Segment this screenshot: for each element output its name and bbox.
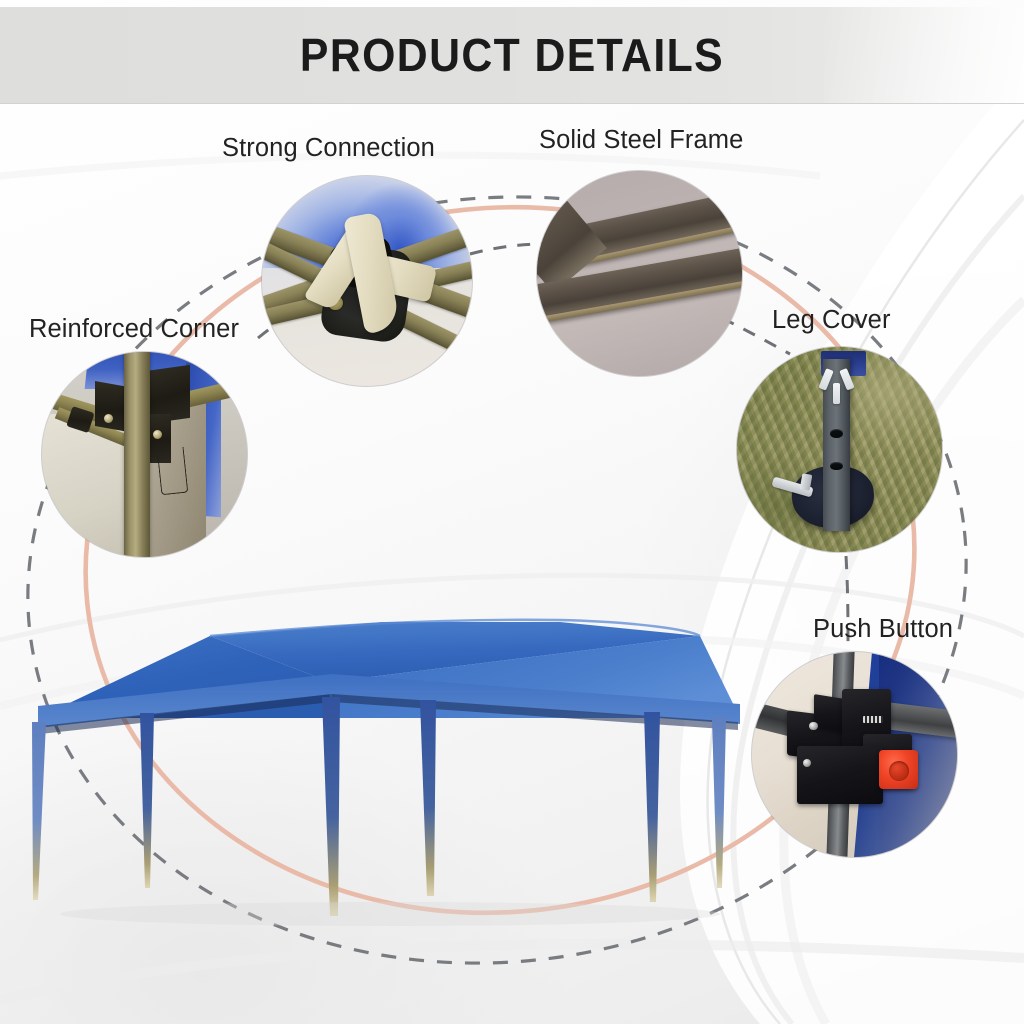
page-title: PRODUCT DETAILS xyxy=(36,7,988,103)
callout-label-reinforced-corner: Reinforced Corner xyxy=(29,315,239,344)
photo-strong-connection xyxy=(262,176,472,386)
gazebo-leg xyxy=(420,700,436,896)
callout-label-push-button: Push Button xyxy=(813,615,953,644)
callout-photo-reinforced-corner[interactable] xyxy=(42,352,247,557)
gazebo-leg xyxy=(322,697,340,916)
callout-label-leg-cover: Leg Cover xyxy=(772,306,891,335)
callout-photo-leg-cover[interactable] xyxy=(737,347,942,552)
callout-photo-strong-connection[interactable] xyxy=(262,176,472,386)
gazebo-leg xyxy=(712,718,726,888)
gazebo-leg xyxy=(644,712,660,902)
product-image-gazebo xyxy=(0,600,790,930)
gazebo-leg xyxy=(32,722,46,900)
gazebo-shadow xyxy=(60,902,720,926)
red-push-button-icon xyxy=(879,750,918,789)
infographic-page: PRODUCT DETAILS Strong Connection Solid … xyxy=(0,0,1024,1024)
photo-reinforced-corner xyxy=(42,352,247,557)
callout-label-solid-steel-frame: Solid Steel Frame xyxy=(539,126,743,155)
gazebo-legs xyxy=(32,697,726,916)
gazebo-leg xyxy=(140,713,154,888)
callout-photo-solid-steel-frame[interactable] xyxy=(537,171,742,376)
photo-solid-steel-frame xyxy=(537,171,742,376)
callout-label-strong-connection: Strong Connection xyxy=(222,134,435,163)
photo-leg-cover xyxy=(737,347,942,552)
